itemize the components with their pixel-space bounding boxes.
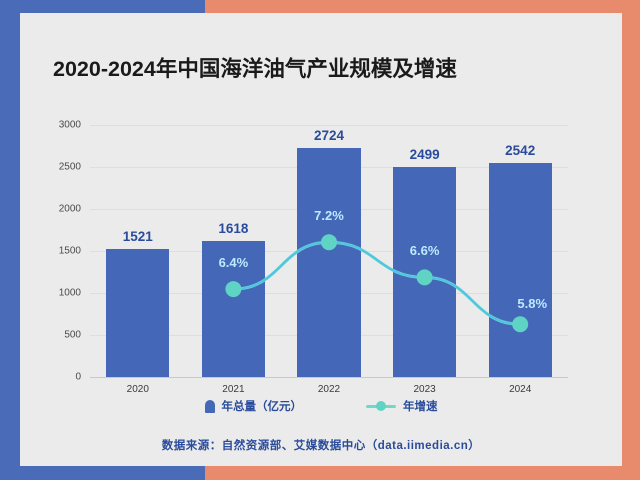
y-axis-tick-label: 2500 [59, 162, 81, 173]
bar-value-label-2020: 1521 [123, 229, 153, 244]
x-axis-tick-label-2020: 2020 [127, 384, 149, 395]
x-axis-tick-label-2021: 2021 [222, 384, 244, 395]
chart-legend: 年总量（亿元） 年增速 [20, 398, 622, 414]
frame-band-top-right [205, 0, 640, 13]
y-axis-tick-label: 1000 [59, 288, 81, 299]
legend-item-growth[interactable]: 年增速 [366, 398, 438, 414]
growth-line [233, 242, 520, 324]
x-axis-tick-label-2023: 2023 [413, 384, 435, 395]
growth-rate-label-2024: 5.8% [517, 296, 547, 311]
legend-label-total: 年总量（亿元） [222, 398, 303, 414]
growth-rate-label-2021: 6.4% [219, 255, 249, 270]
source-note: 数据来源：自然资源部、艾媒数据中心（data.iimedia.cn） [20, 437, 622, 453]
poster-frame: 2020-2024年中国海洋油气产业规模及增速 0500100015002000… [0, 0, 640, 480]
legend-item-total[interactable]: 年总量（亿元） [205, 398, 303, 414]
frame-band-left [0, 0, 20, 480]
bar-value-label-2022: 2724 [314, 128, 344, 143]
frame-band-bottom-right [205, 466, 640, 480]
legend-label-growth: 年增速 [403, 398, 438, 414]
bar-2023[interactable] [393, 167, 456, 377]
frame-band-top-left [0, 0, 205, 13]
plot-area: 050010001500200025003000 152116182724249… [90, 125, 568, 377]
y-axis-tick-label: 1500 [59, 246, 81, 257]
bar-value-label-2023: 2499 [410, 147, 440, 162]
frame-band-right [622, 0, 640, 480]
bar-value-label-2021: 1618 [218, 221, 248, 236]
chart-card: 2020-2024年中国海洋油气产业规模及增速 0500100015002000… [20, 13, 622, 466]
bar-2020[interactable] [106, 249, 169, 377]
bar-2022[interactable] [297, 148, 360, 377]
y-axis-tick-label: 3000 [59, 120, 81, 131]
chart-title: 2020-2024年中国海洋油气产业规模及增速 [53, 52, 457, 83]
x-axis-tick-label-2024: 2024 [509, 384, 531, 395]
line-swatch-icon [366, 400, 396, 412]
y-axis-tick-label: 2000 [59, 204, 81, 215]
y-axis-tick-label: 500 [64, 330, 81, 341]
bar-2024[interactable] [489, 163, 552, 377]
x-axis-tick-label-2022: 2022 [318, 384, 340, 395]
bar-swatch-icon [205, 400, 215, 413]
growth-rate-label-2023: 6.6% [410, 243, 440, 258]
gridline [90, 125, 568, 126]
y-axis-tick-label: 0 [75, 372, 81, 383]
bar-value-label-2024: 2542 [505, 143, 535, 158]
frame-band-bottom-left [0, 466, 205, 480]
growth-rate-label-2022: 7.2% [314, 208, 344, 223]
growth-line-glow [233, 242, 520, 324]
gridline [90, 377, 568, 378]
